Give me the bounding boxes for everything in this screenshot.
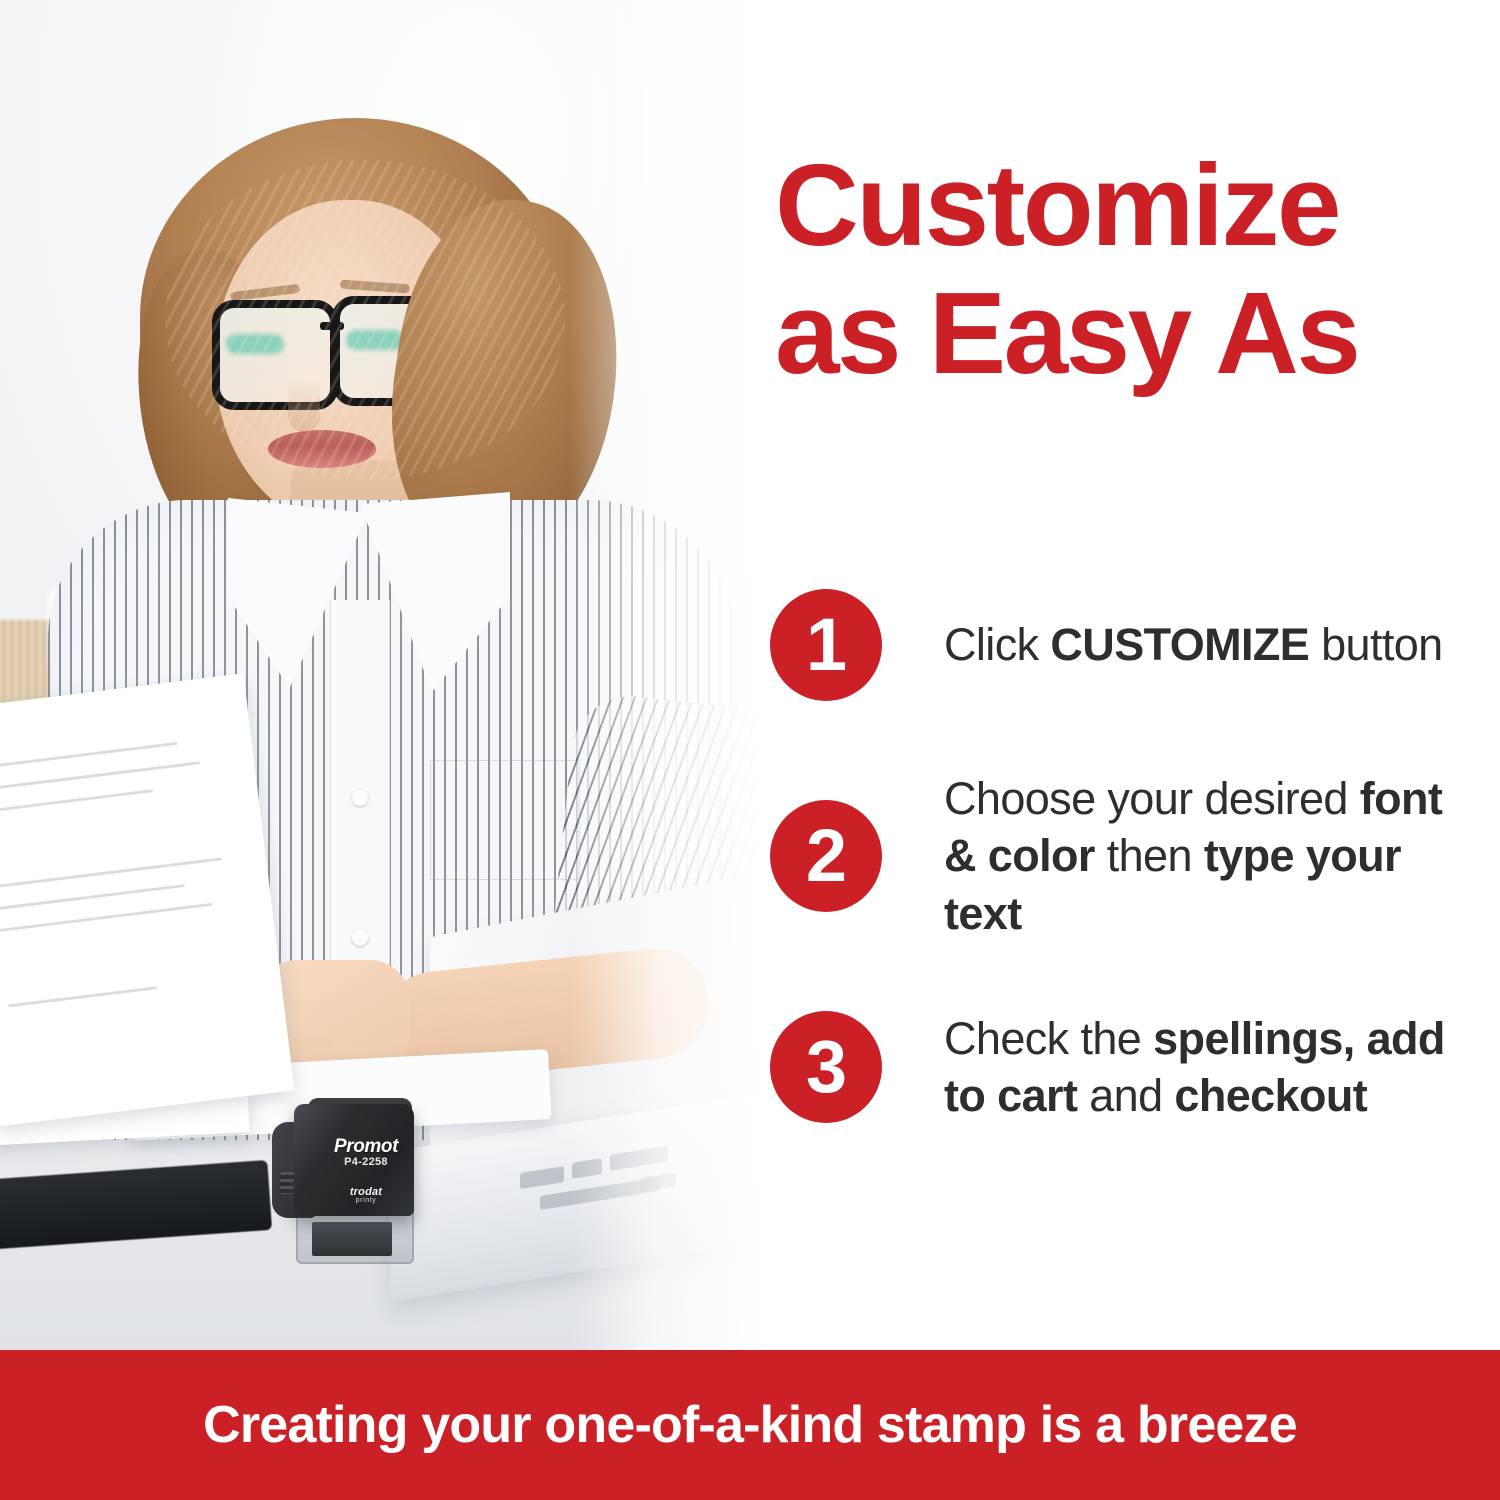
step-number-badge-2: 2 bbox=[770, 800, 882, 912]
step-number-badge-1: 1 bbox=[770, 589, 882, 701]
step-text-run: and bbox=[1077, 1070, 1174, 1121]
headline-line-2: as Easy As bbox=[775, 270, 1465, 398]
photo-shirt-sleeve bbox=[543, 690, 760, 1039]
step-text-1: Click CUSTOMIZE button bbox=[944, 616, 1443, 673]
banner-tagline: Creating your one-of-a-kind stamp is a b… bbox=[203, 1395, 1297, 1455]
step-text-emphasis: checkout bbox=[1174, 1070, 1367, 1121]
photo-shirt-button bbox=[352, 930, 368, 946]
stamp-die-pad bbox=[312, 1222, 392, 1256]
step-number-2: 2 bbox=[806, 819, 846, 893]
headline-line-1: Customize bbox=[775, 140, 1339, 270]
stamp-product: Promot P4-2258 trodat printy bbox=[272, 1098, 424, 1268]
step-text-run: then bbox=[1095, 830, 1204, 881]
step-text-run: button bbox=[1309, 619, 1442, 670]
page-title: Customize as Easy As bbox=[775, 142, 1465, 397]
step-text-2: Choose your desired font & color then ty… bbox=[944, 770, 1470, 941]
stamp-brand-label: Promot bbox=[318, 1136, 414, 1158]
bottom-banner: Creating your one-of-a-kind stamp is a b… bbox=[0, 1350, 1500, 1500]
photo-shirt-button bbox=[352, 790, 368, 806]
step-text-emphasis: spellings, bbox=[1153, 1013, 1355, 1064]
photo-shirt-pocket bbox=[430, 760, 580, 880]
step-text-emphasis: CUSTOMIZE bbox=[1050, 619, 1309, 670]
stamp-maker-sub-label: printy bbox=[314, 1197, 418, 1204]
step-text-run: Click bbox=[944, 619, 1050, 670]
step-text-run: Choose your desired bbox=[944, 773, 1360, 824]
step-item-2: 2 Choose your desired font & color then … bbox=[770, 745, 1470, 967]
stamp-model-label: P4-2258 bbox=[318, 1156, 414, 1168]
photo-document-front bbox=[0, 673, 294, 1126]
lifestyle-photo: Promot P4-2258 trodat printy bbox=[0, 0, 760, 1350]
step-text-run: Check the bbox=[944, 1013, 1153, 1064]
promo-image-canvas: Promot P4-2258 trodat printy Customize a… bbox=[0, 0, 1500, 1500]
step-text-3: Check the spellings, add to cart and che… bbox=[944, 1010, 1470, 1124]
photo-hair-strands bbox=[165, 160, 565, 480]
step-number-1: 1 bbox=[806, 608, 846, 682]
step-number-3: 3 bbox=[806, 1030, 846, 1104]
step-number-badge-3: 3 bbox=[770, 1011, 882, 1123]
steps-list: 1 Click CUSTOMIZE button 2 Choose your d… bbox=[770, 545, 1470, 1167]
step-item-1: 1 Click CUSTOMIZE button bbox=[770, 545, 1470, 745]
step-text-run bbox=[1355, 1013, 1367, 1064]
step-item-3: 3 Check the spellings, add to cart and c… bbox=[770, 967, 1470, 1167]
